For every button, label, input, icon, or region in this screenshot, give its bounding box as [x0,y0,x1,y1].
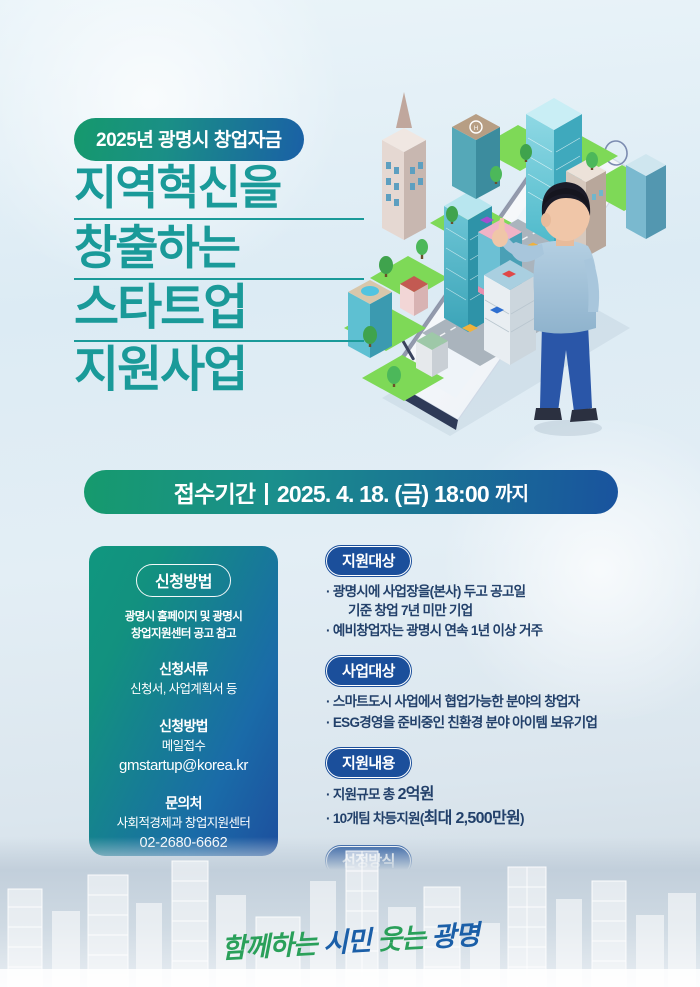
bullet-text-cont: 기준 창업 7년 미만 기업 [337,601,636,620]
headline-line-3: 스타트업 [74,280,364,342]
apply-note-line-2: 창업지원센터 공고 참고 [97,626,270,643]
apply-block-documents: 신청서류 신청서, 사업계획서 등 [97,659,270,699]
slogan-part-1: 함께하는 [221,929,318,964]
section-eligibility: 지원대상 · 광명시에 사업장을(본사) 두고 공고일 기준 창업 7년 미만 … [326,546,636,640]
business-target-pill: 사업대상 [326,656,411,686]
headline-line-1: 지역혁신을 [74,160,364,220]
bullet-emphasis: 2억원 [398,786,434,803]
bullet-text-post: ) [520,811,524,826]
period-label: 접수기간 [174,475,255,509]
bullet-text: 광명시에 사업장을(본사) 두고 공고일 [333,584,526,599]
bullet-text: 예비창업자는 광명시 연속 1년 이상 거주 [333,623,543,638]
list-item: · 스마트도시 사업에서 협업가능한 분야의 창업자 [326,692,636,711]
method-line: 메일접수 [97,738,270,756]
bullet-text: 10개팀 차등지원( [333,811,424,826]
headline-line-2: 창출하는 [74,220,364,280]
contact-department: 사회적경제과 창업지원센터 [97,815,270,833]
bullet-text: ESG경영을 준비중인 친환경 분야 아이템 보유기업 [333,715,597,730]
list-item: · ESG경영을 준비중인 친환경 분야 아이템 보유기업 [326,713,636,732]
smart-city-illustration: H [330,78,675,468]
support-content-pill: 지원내용 [326,748,411,778]
period-suffix: 까지 [495,479,528,506]
email-address[interactable]: gmstartup@korea.kr [97,755,270,776]
bullet-text: 스마트도시 사업에서 협업가능한 분야의 창업자 [333,694,580,709]
bullet-dot: · [326,694,330,709]
contact-heading: 문의처 [97,793,270,813]
bullet-dot: · [326,715,330,730]
apply-block-method: 신청방법 메일접수 gmstartup@korea.kr [97,716,270,777]
section-support-content: 지원내용 · 지원규모 총 2억원 · 10개팀 차등지원(최대 2,500만원… [326,748,636,830]
bullet-text: 지원규모 총 [333,787,398,802]
list-item: · 10개팀 차등지원(최대 2,500만원) [326,808,636,831]
list-item: · 광명시에 사업장을(본사) 두고 공고일 기준 창업 7년 미만 기업 [326,582,636,620]
documents-heading: 신청서류 [97,659,270,679]
method-heading: 신청방법 [97,716,270,736]
bullet-dot: · [326,623,330,638]
list-item: · 예비창업자는 광명시 연속 1년 이상 거주 [326,621,636,640]
page-title: 지역혁신을 창출하는 스타트업 지원사업 [74,160,364,402]
svg-text:H: H [474,126,478,132]
slogan-part-2: 시민 [322,926,371,959]
documents-line: 신청서, 사업계획서 등 [97,681,270,699]
headline-line-4: 지원사업 [74,342,364,402]
bullet-emphasis: 최대 2,500만원 [424,810,520,827]
poster-canvas: H [0,0,700,987]
bullet-dot: · [326,787,330,802]
slogan-part-4: 광명 [430,920,479,953]
slogan-part-3: 웃는 [376,923,425,956]
eyebrow-badge: 2025년 광명시 창업자금 [74,118,304,161]
application-period-banner: 접수기간 | 2025. 4. 18. (금) 18:00 까지 [84,470,618,514]
bullet-dot: · [326,584,330,599]
apply-method-pill: 신청방법 [136,564,231,597]
period-separator: | [263,479,269,506]
section-business-target: 사업대상 · 스마트도시 사업에서 협업가능한 분야의 창업자 · ESG경영을… [326,656,636,731]
list-item: · 지원규모 총 2억원 [326,784,636,807]
period-date: 2025. 4. 18. (금) 18:00 [277,475,489,509]
apply-info-panel: 신청방법 광명시 홈페이지 및 광명시 창업지원센터 공고 참고 신청서류 신청… [89,546,278,856]
bullet-dot: · [326,811,330,826]
apply-note: 광명시 홈페이지 및 광명시 창업지원센터 공고 참고 [97,609,270,642]
eligibility-pill: 지원대상 [326,546,411,576]
apply-note-line-1: 광명시 홈페이지 및 광명시 [97,609,270,626]
